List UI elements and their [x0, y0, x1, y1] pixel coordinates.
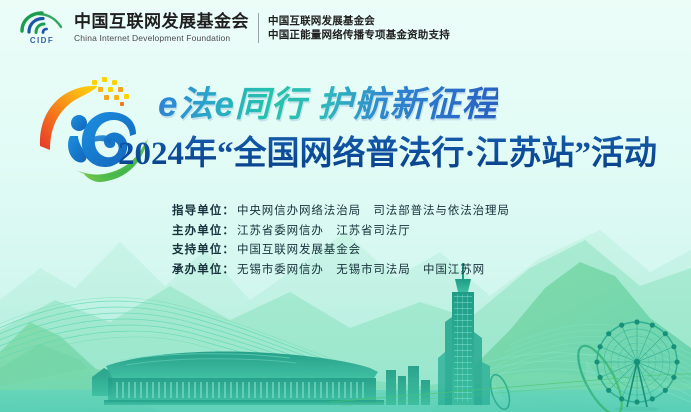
cidf-logo: CIDF — [14, 11, 70, 45]
cidf-abbreviation: CIDF — [30, 36, 54, 45]
fund-credit-line-1: 中国互联网发展基金会 — [268, 14, 450, 28]
org-label: 支持单位： — [172, 241, 235, 260]
ring-arc-icon — [487, 372, 513, 411]
convention-center-icon — [92, 352, 384, 405]
wave-lines-icon — [485, 324, 691, 384]
poster-canvas: CIDF 中国互联网发展基金会 China Internet Developme… — [0, 0, 691, 412]
organizations-block: 指导单位： 中央网信办网络法治局 司法部普法与依法治理局 主办单位： 江苏省委网… — [172, 202, 510, 279]
org-row: 主办单位： 江苏省委网信办 江苏省司法厅 — [172, 222, 510, 241]
city-skyline — [0, 262, 691, 412]
org-value: 中央网信办网络法治局 司法部普法与依法治理局 — [237, 202, 510, 221]
ring-arc-icon — [570, 340, 630, 412]
org-value: 无锡市委网信办 无锡市司法局 中国江苏网 — [237, 261, 485, 280]
page-title-main: e法e同行 护航新征程 — [158, 76, 498, 127]
skyscraper-icon — [438, 263, 490, 405]
header-bar: CIDF 中国互联网发展基金会 China Internet Developme… — [0, 0, 691, 56]
low-buildings-icon — [386, 366, 430, 405]
cidf-name-cn: 中国互联网发展基金会 — [74, 12, 249, 31]
cidf-names: 中国互联网发展基金会 China Internet Development Fo… — [74, 12, 249, 44]
fund-credit-line-2: 中国正能量网络传播专项基金资助支持 — [268, 28, 450, 42]
org-row: 承办单位： 无锡市委网信办 无锡市司法局 中国江苏网 — [172, 261, 510, 280]
org-label: 主办单位： — [172, 222, 235, 241]
org-row: 支持单位： 中国互联网发展基金会 — [172, 241, 510, 260]
page-title-sub: 2024年“全国网络普法行·江苏站”活动 — [118, 126, 657, 174]
cidf-name-en: China Internet Development Foundation — [74, 32, 249, 44]
ferris-wheel-icon — [594, 319, 679, 411]
org-value: 中国互联网发展基金会 — [237, 241, 361, 260]
fund-credit: 中国互联网发展基金会 中国正能量网络传播专项基金资助支持 — [268, 14, 450, 42]
org-row: 指导单位： 中央网信办网络法治局 司法部普法与依法治理局 — [172, 202, 510, 221]
org-label: 指导单位： — [172, 202, 235, 221]
header-divider — [258, 13, 259, 43]
cidf-wifi-arcs-icon — [18, 11, 66, 35]
wave-lines-icon — [0, 301, 370, 392]
org-value: 江苏省委网信办 江苏省司法厅 — [237, 222, 411, 241]
org-label: 承办单位： — [172, 261, 235, 280]
